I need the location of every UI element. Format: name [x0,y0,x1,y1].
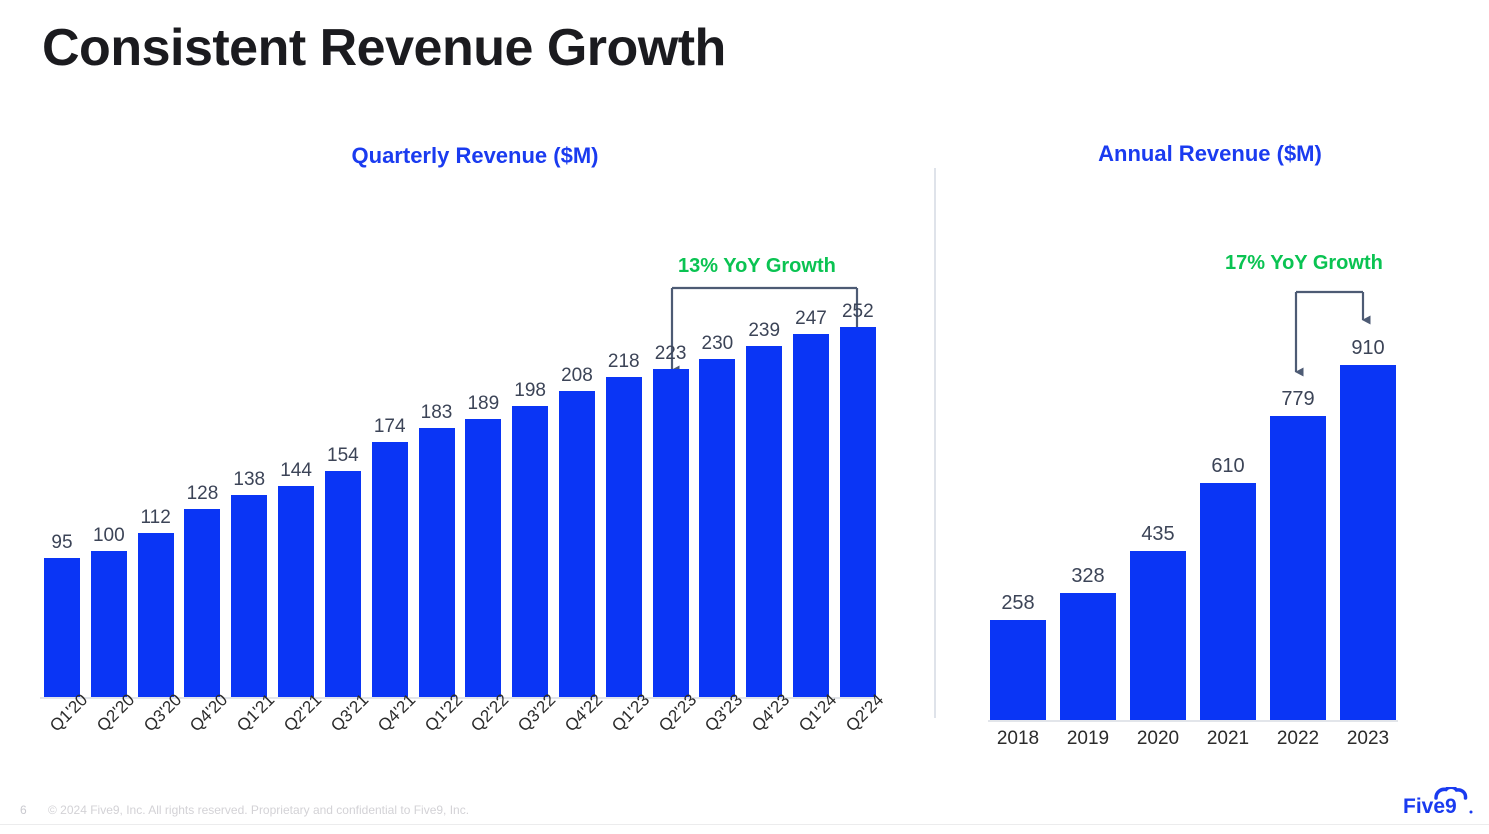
quarterly-growth-callout: 13% YoY Growth [678,255,836,278]
annual-bar[interactable] [1060,593,1116,721]
quarterly-axis-tick: Q1'20 [44,700,80,780]
bar-slot: 144 [278,300,314,698]
quarterly-bar[interactable] [138,533,174,698]
five9-logo: Five9 [1399,787,1475,821]
footer-copyright: © 2024 Five9, Inc. All rights reserved. … [48,803,469,817]
quarterly-bar[interactable] [91,551,127,698]
annual-bar-value: 779 [1281,388,1314,411]
annual-axis-tick: 2019 [1060,728,1116,750]
quarterly-axis-tick: Q1'23 [606,700,642,780]
quarterly-bar-value: 112 [140,507,170,529]
quarterly-chart-plot: 9510011212813814415417418318919820821822… [44,300,876,698]
bar-slot: 183 [419,300,455,698]
quarterly-bar-value: 174 [374,416,406,438]
quarterly-bar[interactable] [419,428,455,698]
bar-slot: 138 [231,300,267,698]
quarterly-axis-tick: Q4'23 [746,700,782,780]
quarterly-bar-value: 138 [233,469,265,491]
quarterly-bar-value: 183 [421,402,453,424]
bar-slot: 208 [559,300,595,698]
bar-slot: 112 [138,300,174,698]
quarterly-axis-tick: Q1'21 [231,700,267,780]
quarterly-bar[interactable] [184,509,220,698]
quarterly-bar-value: 154 [327,445,359,467]
quarterly-bar-value: 239 [748,320,780,342]
quarterly-bar[interactable] [512,406,548,698]
annual-bar-value: 258 [1001,592,1034,615]
bar-slot: 328 [1060,330,1116,721]
footer-divider [0,824,1489,825]
annual-axis-tick: 2020 [1130,728,1186,750]
bar-slot: 239 [746,300,782,698]
annual-axis-tick: 2021 [1200,728,1256,750]
bar-slot: 910 [1340,330,1396,721]
quarterly-axis-tick: Q2'24 [840,700,876,780]
quarterly-bar-value: 230 [702,333,734,355]
footer-page-number: 6 [20,803,27,817]
bar-slot: 258 [990,330,1046,721]
annual-axis-tick: 2018 [990,728,1046,750]
quarterly-bar[interactable] [231,495,267,698]
quarterly-bar-value: 198 [514,380,546,402]
quarterly-bar-value: 189 [467,393,499,415]
bar-slot: 100 [91,300,127,698]
annual-axis-tick: 2022 [1270,728,1326,750]
annual-axis-line [988,720,1398,722]
annual-x-axis: 201820192020202120222023 [990,728,1396,750]
quarterly-axis-tick: Q2'21 [278,700,314,780]
annual-bar-value: 910 [1351,337,1384,360]
quarterly-bar-value: 128 [187,483,219,505]
quarterly-bar[interactable] [653,369,689,698]
quarterly-axis-tick: Q3'21 [325,700,361,780]
bar-slot: 610 [1200,330,1256,721]
quarterly-bar[interactable] [44,558,80,698]
quarterly-axis-tick: Q2'22 [465,700,501,780]
quarterly-x-axis: Q1'20Q2'20Q3'20Q4'20Q1'21Q2'21Q3'21Q4'21… [44,700,876,780]
bar-slot: 218 [606,300,642,698]
quarterly-axis-tick: Q1'22 [419,700,455,780]
bar-slot: 252 [840,300,876,698]
quarterly-bar-group: 9510011212813814415417418318919820821822… [44,300,876,698]
quarterly-axis-tick: Q3'20 [138,700,174,780]
quarterly-bar[interactable] [278,486,314,698]
svg-text:Five9: Five9 [1403,795,1457,818]
quarterly-bar[interactable] [746,346,782,698]
bar-slot: 198 [512,300,548,698]
bar-slot: 154 [325,300,361,698]
bar-slot: 189 [465,300,501,698]
page-title: Consistent Revenue Growth [42,18,726,78]
bar-slot: 779 [1270,330,1326,721]
bar-slot: 247 [793,300,829,698]
quarterly-axis-tick: Q4'22 [559,700,595,780]
annual-bar-value: 328 [1071,565,1104,588]
quarterly-bar[interactable] [465,419,501,698]
quarterly-bar-value: 208 [561,365,593,387]
quarterly-bar[interactable] [699,359,735,698]
quarterly-bar[interactable] [793,334,829,698]
quarterly-axis-tick: Q4'20 [184,700,220,780]
quarterly-bar-value: 100 [93,525,125,547]
quarterly-axis-tick: Q2'20 [91,700,127,780]
annual-bar[interactable] [1130,551,1186,721]
annual-bar[interactable] [1270,416,1326,721]
panel-divider [934,168,936,718]
quarterly-bar-value: 218 [608,351,640,373]
quarterly-bar[interactable] [372,442,408,698]
annual-bar[interactable] [1340,365,1396,721]
annual-bar[interactable] [990,620,1046,721]
quarterly-bar-value: 247 [795,308,827,330]
quarterly-axis-tick: Q2'23 [653,700,689,780]
quarterly-axis-tick: Q3'23 [699,700,735,780]
slide-canvas: Consistent Revenue Growth Quarterly Reve… [0,0,1489,834]
quarterly-bar[interactable] [840,327,876,698]
quarterly-bar-value: 252 [842,301,874,323]
quarterly-bar-value: 144 [280,460,312,482]
bar-slot: 95 [44,300,80,698]
annual-bar[interactable] [1200,483,1256,722]
quarterly-chart-title: Quarterly Revenue ($M) [200,143,750,169]
quarterly-axis-tick: Q3'22 [512,700,548,780]
bar-slot: 223 [653,300,689,698]
quarterly-bar-value: 95 [51,532,72,554]
bar-slot: 435 [1130,330,1186,721]
quarterly-bar[interactable] [325,471,361,698]
quarterly-bar[interactable] [559,391,595,698]
quarterly-axis-tick: Q1'24 [793,700,829,780]
quarterly-bar-value: 223 [655,343,687,365]
quarterly-bar[interactable] [606,377,642,698]
annual-bar-value: 435 [1141,523,1174,546]
bar-slot: 174 [372,300,408,698]
annual-chart-plot: 258328435610779910 [990,330,1396,721]
bar-slot: 128 [184,300,220,698]
annual-bar-value: 610 [1211,455,1244,478]
annual-axis-tick: 2023 [1340,728,1396,750]
annual-growth-callout: 17% YoY Growth [1225,252,1383,275]
annual-bar-group: 258328435610779910 [990,330,1396,721]
quarterly-axis-tick: Q4'21 [372,700,408,780]
annual-chart-title: Annual Revenue ($M) [1000,141,1420,167]
bar-slot: 230 [699,300,735,698]
